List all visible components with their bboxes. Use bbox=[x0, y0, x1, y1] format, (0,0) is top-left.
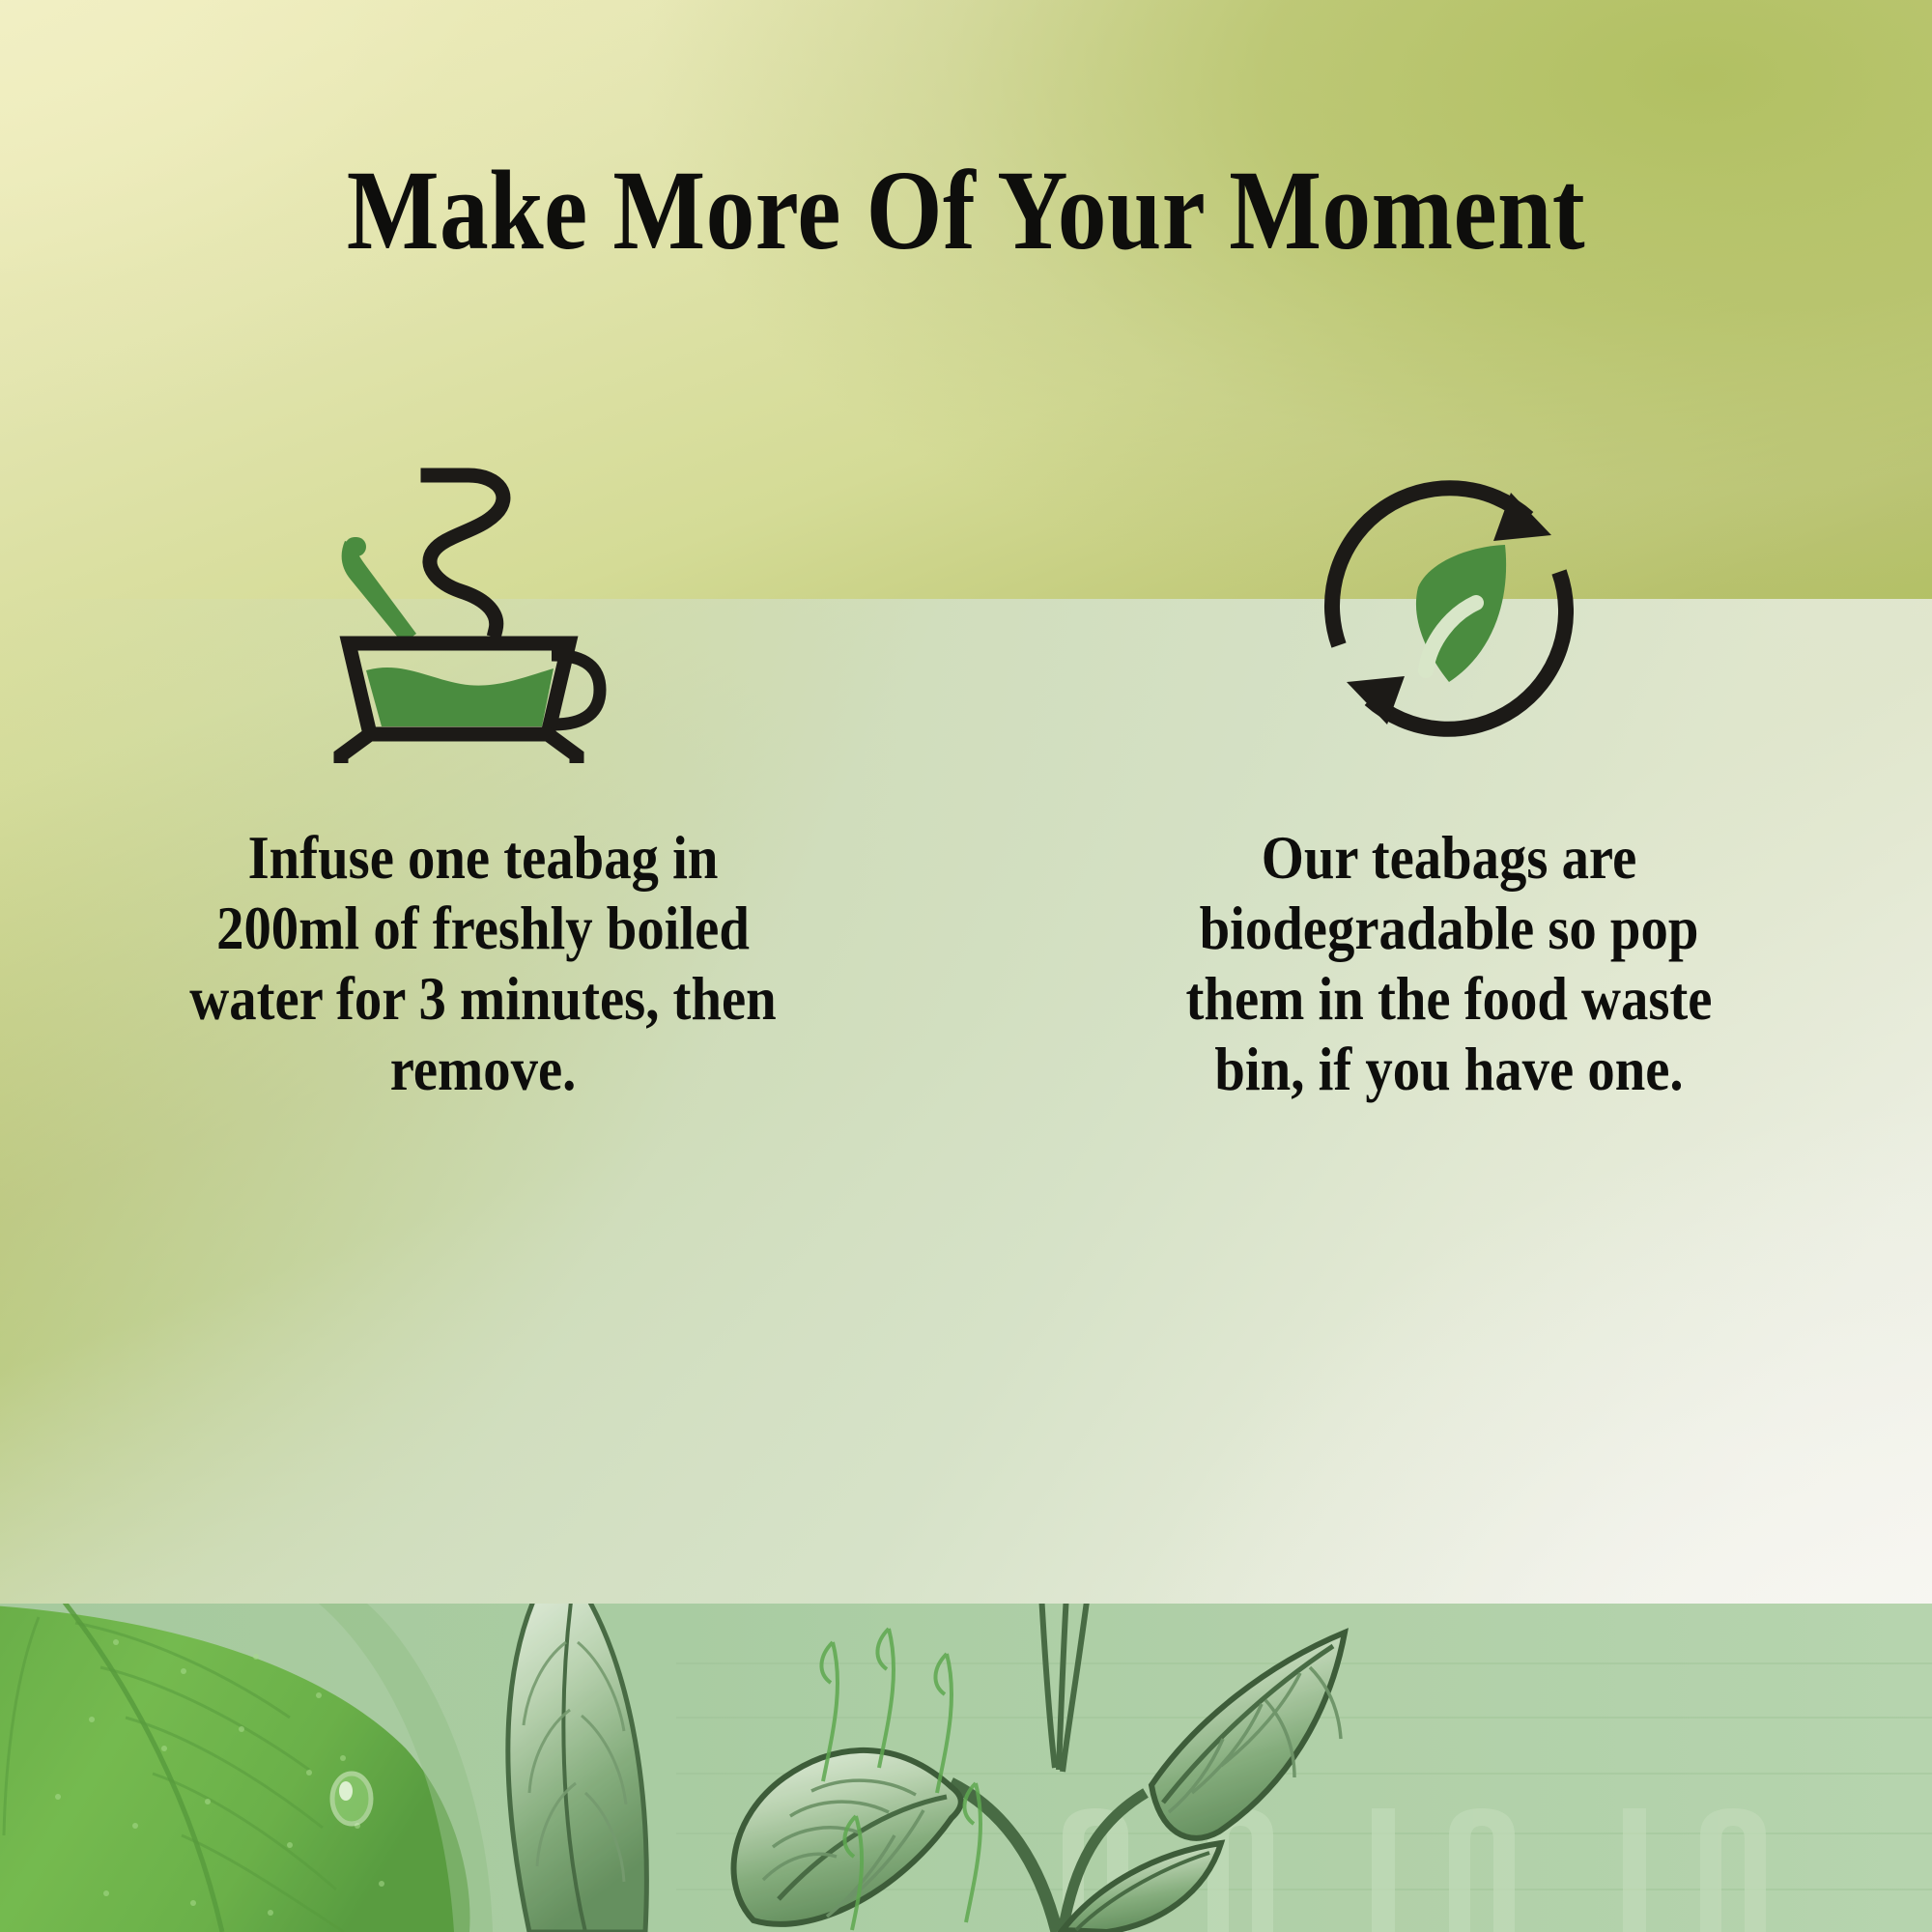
feature-columns: Infuse one teabag in 200ml of freshly bo… bbox=[0, 454, 1932, 1517]
recycle-leaf-biodegradable-icon bbox=[1304, 454, 1594, 763]
feature-caption-brewing: Infuse one teabag in 200ml of freshly bo… bbox=[179, 823, 787, 1105]
page-title: Make More Of Your Moment bbox=[135, 153, 1797, 269]
bottom-botanical-band bbox=[0, 1604, 1932, 1932]
feature-column-brewing: Infuse one teabag in 200ml of freshly bo… bbox=[0, 454, 966, 1517]
poster-root: Make More Of Your Moment bbox=[0, 0, 1932, 1932]
feature-column-biodegradable: Our teabags are biodegradable so pop the… bbox=[966, 454, 1932, 1517]
feature-caption-biodegradable: Our teabags are biodegradable so pop the… bbox=[1136, 823, 1762, 1105]
tea-cup-with-spoon-and-steam-icon bbox=[324, 454, 642, 763]
